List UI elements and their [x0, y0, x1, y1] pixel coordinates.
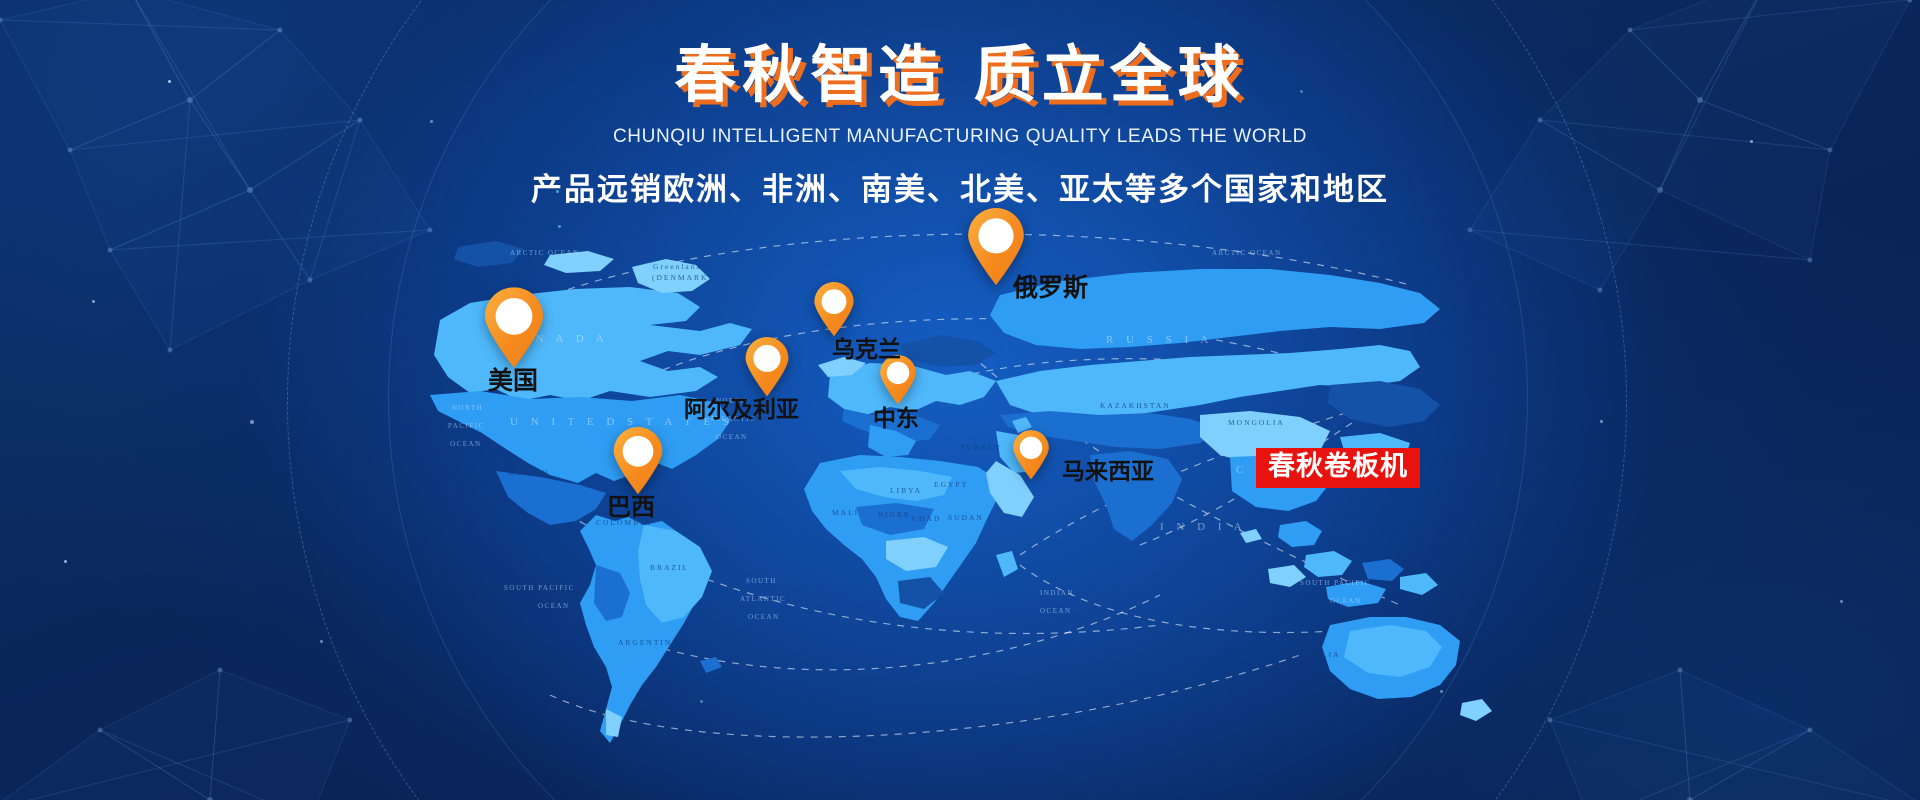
map-label: KAZAKHSTAN	[1100, 401, 1171, 410]
map-label: LIBYA	[890, 486, 922, 495]
map-marker-usa[interactable]	[483, 287, 545, 369]
map-label: BRAZIL	[650, 563, 689, 572]
map-marker-label-ukraine: 乌克兰	[832, 330, 901, 364]
map-label: OCEAN	[748, 613, 780, 621]
map-marker-algeria[interactable]	[744, 337, 790, 397]
map-label: SOUTH	[746, 577, 777, 585]
map-label: TURKEY	[960, 443, 1002, 452]
map-label: OCEAN	[1330, 597, 1362, 605]
map-label: (DENMARK)	[652, 273, 713, 282]
product-badge[interactable]: 春秋卷板机	[1256, 448, 1420, 488]
map-label: SUDAN	[948, 513, 984, 522]
location-pin-icon[interactable]	[483, 287, 545, 369]
map-label: OCEAN	[1040, 607, 1072, 615]
map-marker-malaysia[interactable]	[1012, 430, 1050, 480]
page-title: 春秋智造 质立全球	[674, 44, 1246, 106]
map-marker-label-russia: 俄罗斯	[1013, 268, 1088, 304]
map-label: NIGER	[878, 510, 911, 519]
headline-block: 春秋智造 质立全球 CHUNQIU INTELLIGENT MANUFACTUR…	[0, 44, 1920, 209]
map-marker-label-mideast: 中东	[873, 399, 919, 433]
map-label: ARCTIC OCEAN	[510, 249, 580, 257]
south-america	[580, 515, 712, 743]
map-label: INDIAN	[1040, 589, 1074, 597]
north-america	[430, 241, 752, 525]
map-label: MEXICO	[508, 468, 550, 477]
asia	[986, 269, 1440, 541]
australia	[1322, 617, 1492, 721]
map-label: NORTH	[452, 404, 483, 412]
map-marker-label-brazil: 巴西	[607, 487, 655, 522]
map-label: AUSTRALIA	[1280, 650, 1341, 659]
map-marker-ukraine[interactable]	[813, 282, 855, 337]
map-label: ARCTIC OCEAN	[1212, 249, 1282, 257]
southeast-asia	[1268, 521, 1438, 607]
map-label: ATLANTIC	[740, 595, 786, 603]
map-label: OCEAN	[450, 440, 482, 448]
subtitle-chinese: 产品远销欧洲、非洲、南美、北美、亚太等多个国家和地区	[0, 164, 1920, 209]
subtitle-english: CHUNQIU INTELLIGENT MANUFACTURING QUALIT…	[0, 126, 1920, 148]
hero-banner: 春秋智造 质立全球 CHUNQIU INTELLIGENT MANUFACTUR…	[0, 0, 1920, 800]
map-label: Greenland	[653, 262, 702, 271]
map-label: MONGOLIA	[1228, 418, 1285, 427]
world-map: ARCTIC OCEANARCTIC OCEANNORTHPACIFICOCEA…	[400, 225, 1520, 770]
map-label: PACIFIC	[448, 422, 485, 430]
location-pin-icon[interactable]	[813, 282, 855, 337]
location-pin-icon[interactable]	[612, 427, 664, 495]
map-label: OCEAN	[538, 602, 570, 610]
map-label: OCEAN	[716, 433, 748, 441]
map-islands	[700, 417, 1262, 673]
map-label: SOUTH PACIFIC	[504, 584, 575, 592]
map-marker-brazil[interactable]	[612, 427, 664, 495]
map-marker-label-algeria: 阿尔及利亚	[684, 390, 799, 424]
map-label: I N D I A	[1160, 521, 1247, 533]
map-label: ARGENTINA	[618, 638, 680, 647]
africa	[804, 455, 1018, 621]
map-label: EGYPT	[934, 480, 968, 489]
world-map-svg: ARCTIC OCEANARCTIC OCEANNORTHPACIFICOCEA…	[400, 225, 1520, 770]
map-label: R U S S I A	[1106, 334, 1213, 346]
map-label: CHAD	[912, 514, 941, 523]
map-marker-label-malaysia: 马来西亚	[1062, 452, 1154, 486]
map-marker-label-usa: 美国	[488, 361, 538, 397]
map-label: MALI	[832, 508, 859, 517]
map-label: SOUTH PACIFIC	[1300, 579, 1371, 587]
polygon-network-bottom-left	[0, 480, 440, 800]
location-pin-icon[interactable]	[1012, 430, 1050, 480]
location-pin-icon[interactable]	[744, 337, 790, 397]
